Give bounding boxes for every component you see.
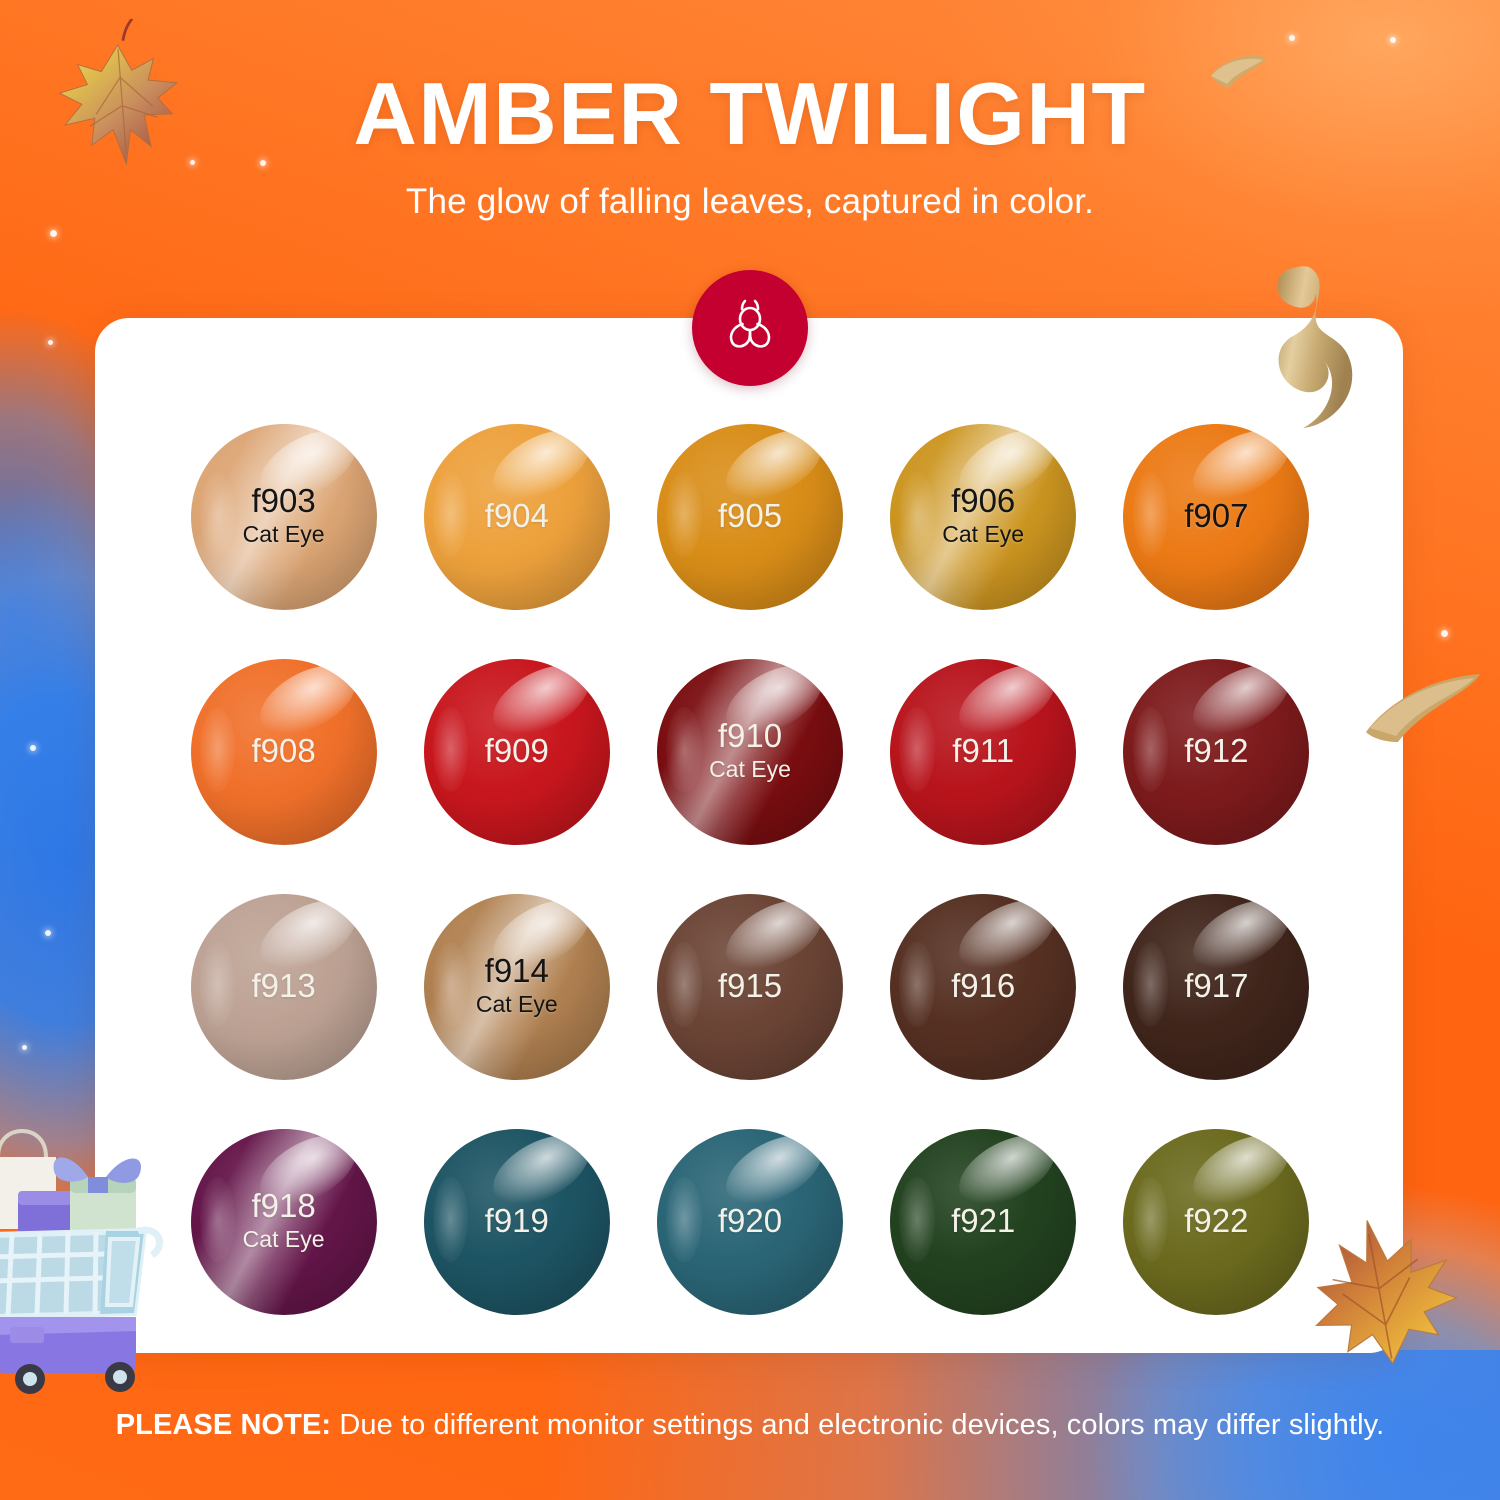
color-swatch-f922[interactable]: f922 [1123, 1129, 1309, 1315]
swatch-cell: f917 [1108, 885, 1325, 1088]
color-swatch-f906[interactable]: f906Cat Eye [890, 424, 1076, 610]
color-swatch-f918[interactable]: f918Cat Eye [191, 1129, 377, 1315]
swatch-code-label: f916 [951, 969, 1015, 1003]
swatch-finish-label: Cat Eye [709, 756, 791, 784]
swatch-edge-gloss [200, 942, 235, 1028]
color-swatch-f907[interactable]: f907 [1123, 424, 1309, 610]
swatch-code-label: f907 [1184, 499, 1248, 533]
swatch-cell: f915 [641, 885, 858, 1088]
color-swatch-f917[interactable]: f917 [1123, 894, 1309, 1080]
color-swatch-f914[interactable]: f914Cat Eye [424, 894, 610, 1080]
swatch-cell: f907 [1108, 415, 1325, 618]
butterfly-knot-logo-icon [717, 295, 783, 361]
swatch-edge-gloss [433, 707, 468, 793]
swatch-cell: f903Cat Eye [175, 415, 392, 618]
color-swatch-f913[interactable]: f913 [191, 894, 377, 1080]
swatch-edge-gloss [666, 472, 701, 558]
swatch-code-label: f911 [952, 734, 1014, 768]
swatch-cell: f908 [175, 650, 392, 853]
color-swatch-f920[interactable]: f920 [657, 1129, 843, 1315]
color-swatch-f904[interactable]: f904 [424, 424, 610, 610]
swatch-grid: f903Cat Eyef904f905f906Cat Eyef907f908f9… [175, 415, 1325, 1323]
swatch-edge-gloss [666, 1177, 701, 1263]
swatch-code-label: f908 [251, 734, 315, 768]
swatch-finish-label: Cat Eye [476, 991, 558, 1019]
swatch-code-label: f914 [485, 954, 549, 988]
swatch-code-label: f910 [718, 719, 782, 753]
swatch-finish-label: Cat Eye [243, 521, 325, 549]
swatch-cell: f906Cat Eye [875, 415, 1092, 618]
swatch-code-label: f909 [485, 734, 549, 768]
swatch-edge-gloss [1133, 472, 1168, 558]
swatch-code-label: f920 [718, 1204, 782, 1238]
swatch-edge-gloss [899, 942, 934, 1028]
swatch-cell: f919 [408, 1120, 625, 1323]
swatch-edge-gloss [1133, 942, 1168, 1028]
swatch-cell: f913 [175, 885, 392, 1088]
swatch-code-label: f918 [251, 1189, 315, 1223]
swatch-code-label: f903 [251, 484, 315, 518]
swatch-cell: f912 [1108, 650, 1325, 853]
swatch-code-label: f913 [251, 969, 315, 1003]
swatch-edge-gloss [1133, 1177, 1168, 1263]
swatch-edge-gloss [433, 942, 468, 1028]
swatch-code-label: f915 [718, 969, 782, 1003]
swatch-edge-gloss [200, 1177, 235, 1263]
swatch-cell: f918Cat Eye [175, 1120, 392, 1323]
swatch-edge-gloss [200, 472, 235, 558]
page-subtitle: The glow of falling leaves, captured in … [0, 158, 1500, 222]
swatch-code-label: f921 [951, 1204, 1015, 1238]
swatch-edge-gloss [666, 942, 701, 1028]
swatch-cell: f916 [875, 885, 1092, 1088]
swatch-cell: f909 [408, 650, 625, 853]
swatch-cell: f920 [641, 1120, 858, 1323]
sparkle-dot [22, 1045, 27, 1050]
brand-logo-badge [692, 270, 808, 386]
color-swatch-f911[interactable]: f911 [890, 659, 1076, 845]
sparkle-dot [50, 230, 57, 237]
swatch-finish-label: Cat Eye [243, 1226, 325, 1254]
swatch-cell: f904 [408, 415, 625, 618]
swatch-cell: f910Cat Eye [641, 650, 858, 853]
swatch-cell: f905 [641, 415, 858, 618]
swatch-code-label: f904 [485, 499, 549, 533]
color-swatch-f908[interactable]: f908 [191, 659, 377, 845]
color-swatch-f903[interactable]: f903Cat Eye [191, 424, 377, 610]
swatch-edge-gloss [666, 707, 701, 793]
color-swatch-f921[interactable]: f921 [890, 1129, 1076, 1315]
sparkle-dot [45, 930, 51, 936]
swatch-cell: f921 [875, 1120, 1092, 1323]
color-swatch-f909[interactable]: f909 [424, 659, 610, 845]
footer-note-text: Due to different monitor settings and el… [331, 1409, 1384, 1441]
sparkle-dot [1441, 630, 1448, 637]
color-swatch-f905[interactable]: f905 [657, 424, 843, 610]
color-swatch-f915[interactable]: f915 [657, 894, 843, 1080]
swatch-code-label: f919 [485, 1204, 549, 1238]
swatch-edge-gloss [200, 707, 235, 793]
swatch-code-label: f912 [1184, 734, 1248, 768]
swatch-code-label: f906 [951, 484, 1015, 518]
swatch-code-label: f922 [1184, 1204, 1248, 1238]
swatch-edge-gloss [899, 1177, 934, 1263]
sparkle-dot [30, 745, 36, 751]
footer-note-label: PLEASE NOTE: [116, 1409, 332, 1441]
swatch-edge-gloss [433, 1177, 468, 1263]
swatch-code-label: f905 [718, 499, 782, 533]
color-swatch-f916[interactable]: f916 [890, 894, 1076, 1080]
color-swatch-f912[interactable]: f912 [1123, 659, 1309, 845]
swatch-cell: f914Cat Eye [408, 885, 625, 1088]
page-title: AMBER TWILIGHT [0, 0, 1500, 158]
swatch-edge-gloss [899, 707, 934, 793]
swatch-code-label: f917 [1184, 969, 1248, 1003]
swatch-edge-gloss [433, 472, 468, 558]
color-swatch-f910[interactable]: f910Cat Eye [657, 659, 843, 845]
sparkle-dot [48, 340, 53, 345]
swatch-cell: f911 [875, 650, 1092, 853]
header: AMBER TWILIGHT The glow of falling leave… [0, 0, 1500, 222]
swatch-finish-label: Cat Eye [942, 521, 1024, 549]
color-swatch-f919[interactable]: f919 [424, 1129, 610, 1315]
swatch-cell: f922 [1108, 1120, 1325, 1323]
footer-note: PLEASE NOTE: Due to different monitor se… [0, 1409, 1500, 1442]
swatch-edge-gloss [1133, 707, 1168, 793]
swatch-edge-gloss [899, 472, 934, 558]
